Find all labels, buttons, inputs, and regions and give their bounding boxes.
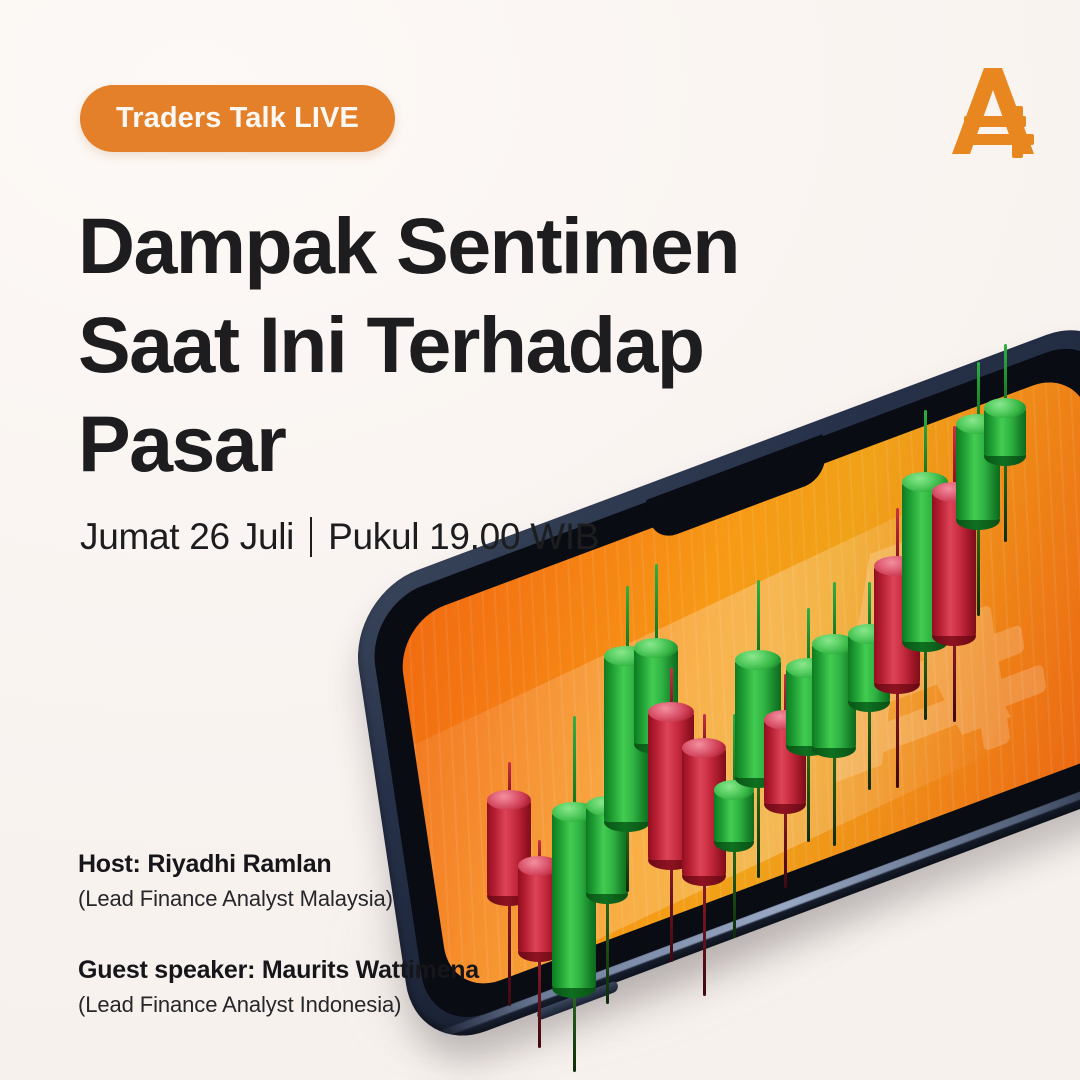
candle-top-cap	[682, 738, 726, 758]
candlestick-red	[932, 492, 976, 636]
candle-base	[714, 832, 754, 852]
candle-wick-lower	[977, 520, 980, 616]
candle-body	[518, 866, 560, 952]
candle-top-cap	[956, 414, 1000, 434]
candle-wick-upper	[733, 714, 736, 790]
candle-top-cap	[518, 856, 560, 876]
candle-wick-lower	[655, 744, 658, 836]
candle-wick-lower	[924, 642, 927, 720]
speaker-list: Host: Riyadhi Ramlan (Lead Finance Analy…	[78, 850, 479, 1018]
candlestick-green	[848, 634, 890, 702]
candle-wick-upper	[655, 564, 658, 648]
candle-base	[848, 692, 890, 712]
candlestick-red	[648, 712, 694, 860]
candle-body	[812, 644, 856, 748]
candle-top-cap	[735, 650, 781, 670]
candle-body	[735, 660, 781, 778]
candlestick-green	[902, 482, 948, 642]
candlestick-green	[634, 648, 678, 744]
candle-wick-lower	[953, 636, 956, 722]
candlestick-green	[552, 812, 596, 988]
candle-top-cap	[648, 702, 694, 722]
candle-body	[634, 648, 678, 744]
candle-wick-lower	[606, 894, 609, 1004]
candle-top-cap	[714, 780, 754, 800]
candle-wick-upper	[924, 410, 927, 482]
candle-top-cap	[552, 802, 596, 822]
candle-wick-upper	[807, 608, 810, 668]
candle-top-cap	[812, 634, 856, 654]
candle-top-cap	[932, 482, 976, 502]
promo-poster: Traders Talk LIVE Dampak Sentimen Saat I…	[0, 0, 1080, 1080]
candlestick-green	[786, 668, 830, 746]
candle-body	[648, 712, 694, 860]
candlestick-green	[735, 660, 781, 778]
candle-top-cap	[984, 398, 1026, 418]
candle-base	[634, 734, 678, 754]
candlestick-green	[984, 408, 1026, 456]
live-badge[interactable]: Traders Talk LIVE	[80, 85, 395, 152]
candle-wick-lower	[784, 804, 787, 888]
candle-body	[604, 656, 650, 822]
candle-base	[586, 884, 628, 904]
candle-wick-lower	[868, 702, 871, 790]
candle-base	[487, 886, 531, 906]
candle-base	[932, 626, 976, 646]
candlestick-green	[812, 644, 856, 748]
candle-top-cap	[874, 556, 920, 576]
candle-wick-lower	[1004, 456, 1007, 542]
candle-body	[714, 790, 754, 842]
candle-base	[682, 866, 726, 886]
event-time: Pukul 19.00 WIB	[328, 516, 599, 558]
speaker-name: Guest speaker: Maurits Wattimena	[78, 956, 479, 985]
candle-wick-upper	[538, 840, 541, 866]
candle-wick-upper	[626, 586, 629, 656]
candle-base	[786, 736, 830, 756]
speaker-role: (Lead Finance Analyst Indonesia)	[78, 992, 479, 1018]
candle-body	[848, 634, 890, 702]
speaker-guest: Guest speaker: Maurits Wattimena (Lead F…	[78, 956, 479, 1018]
candle-body	[956, 424, 1000, 520]
candle-wick-upper	[896, 508, 899, 566]
candle-wick-upper	[606, 694, 609, 806]
candlestick-green	[956, 424, 1000, 520]
candle-base	[735, 768, 781, 788]
candle-wick-upper	[977, 362, 980, 424]
candle-top-cap	[634, 638, 678, 658]
candle-wick-lower	[538, 952, 541, 1048]
candle-wick-upper	[868, 582, 871, 634]
candle-base	[648, 850, 694, 870]
candle-base	[552, 978, 596, 998]
event-datetime: Jumat 26 Juli Pukul 19.00 WIB	[80, 516, 599, 558]
candle-base	[984, 446, 1026, 466]
candle-top-cap	[764, 710, 806, 730]
candle-base	[902, 632, 948, 652]
candlestick-green	[586, 806, 628, 894]
speaker-name: Host: Riyadhi Ramlan	[78, 850, 479, 879]
candle-body	[586, 806, 628, 894]
candle-body	[552, 812, 596, 988]
candle-base	[764, 794, 806, 814]
candle-body	[682, 748, 726, 876]
candle-top-cap	[487, 790, 531, 810]
headline-line-3: Pasar	[78, 394, 838, 493]
candle-wick-upper	[833, 582, 836, 644]
candle-body	[786, 668, 830, 746]
phone-side-button-icon	[536, 980, 618, 1021]
anugerah-a-logo-icon	[946, 62, 1042, 162]
candle-base	[874, 674, 920, 694]
candlestick-red	[487, 800, 531, 896]
candle-top-cap	[902, 472, 948, 492]
candle-wick-lower	[626, 822, 629, 892]
candlestick-red	[682, 748, 726, 876]
screen-watermark-a-logo	[725, 453, 1080, 873]
candle-top-cap	[786, 658, 830, 678]
candle-wick-lower	[733, 842, 736, 938]
candlestick-green	[604, 656, 650, 822]
candle-wick-lower	[757, 778, 760, 878]
candle-wick-lower	[807, 746, 810, 842]
speaker-host: Host: Riyadhi Ramlan (Lead Finance Analy…	[78, 850, 479, 912]
candle-wick-upper	[1004, 344, 1007, 408]
candle-body	[932, 492, 976, 636]
candle-base	[812, 738, 856, 758]
page-title: Dampak Sentimen Saat Ini Terhadap Pasar	[78, 196, 838, 493]
candlestick-red	[874, 566, 920, 684]
candle-wick-upper	[703, 714, 706, 748]
headline-line-1: Dampak Sentimen	[78, 196, 838, 295]
candle-wick-upper	[757, 580, 760, 660]
candle-wick-upper	[670, 668, 673, 712]
candle-wick-upper	[784, 674, 787, 720]
candle-wick-lower	[573, 988, 576, 1072]
candle-wick-lower	[896, 684, 899, 788]
candlestick-green	[714, 790, 754, 842]
candle-wick-upper	[573, 716, 576, 812]
speaker-role: (Lead Finance Analyst Malaysia)	[78, 886, 479, 912]
candle-wick-upper	[508, 762, 511, 800]
candle-base	[956, 510, 1000, 530]
candle-body	[487, 800, 531, 896]
event-date: Jumat 26 Juli	[80, 516, 294, 558]
live-badge-label: Traders Talk LIVE	[116, 102, 359, 135]
candle-wick-upper	[953, 426, 956, 492]
candle-base	[604, 812, 650, 832]
candlestick-red	[764, 720, 806, 804]
candle-body	[874, 566, 920, 684]
headline-line-2: Saat Ini Terhadap	[78, 295, 838, 394]
candle-top-cap	[586, 796, 628, 816]
candle-wick-lower	[670, 860, 673, 962]
candle-body	[764, 720, 806, 804]
candlestick-red	[518, 866, 560, 952]
candle-body	[984, 408, 1026, 456]
candle-wick-lower	[833, 748, 836, 846]
datetime-separator-icon	[310, 517, 312, 557]
candle-base	[518, 942, 560, 962]
phone-edge-highlight	[429, 759, 1080, 1043]
candle-body	[902, 482, 948, 642]
candle-top-cap	[604, 646, 650, 666]
candle-wick-lower	[703, 876, 706, 996]
candle-wick-lower	[508, 896, 511, 1006]
candle-top-cap	[848, 624, 890, 644]
